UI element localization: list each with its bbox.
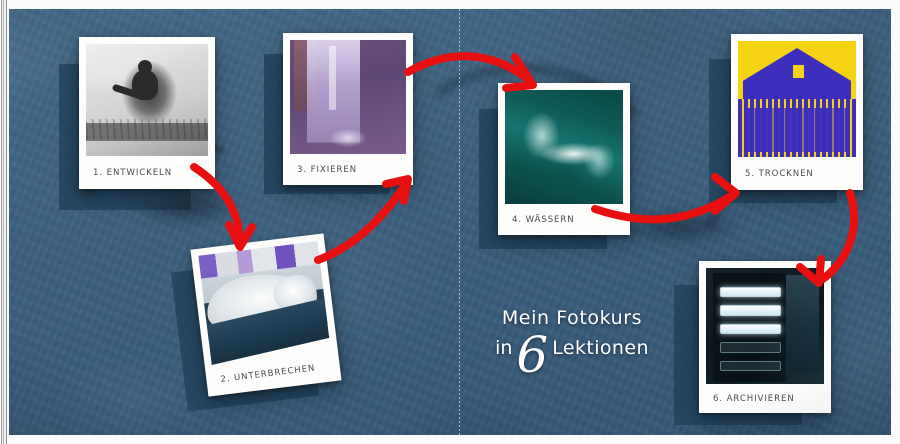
house-window [792,64,805,79]
polaroid-step-6[interactable]: 6. ARCHIVIEREN [699,261,831,413]
bear-backdrop-band [198,241,320,279]
caption-step-4: 4. WÄSSERN [505,204,623,235]
course-title-word-lektionen: Lektionen [552,339,649,358]
polaroid-step-1[interactable]: 1. ENTWICKELN [79,37,215,189]
course-title: Mein Fotokurs in 6 Lektionen [477,309,667,364]
slide-canvas: 1. ENTWICKELN 3. FIXIEREN 4. WÄSSERN 5. … [9,9,891,435]
drawer-5 [720,361,781,372]
course-title-number: 6 [516,340,548,371]
photo-entwickeln [86,44,208,156]
course-title-line1: Mein Fotokurs [477,309,667,328]
photo-fixieren [290,40,406,154]
polaroid-step-5[interactable]: 5. TROCKNEN [731,34,863,190]
caption-step-6: 6. ARCHIVIEREN [706,384,824,413]
photo-unterbrechen [198,241,331,365]
drawer-3 [720,324,781,335]
caption-step-5: 5. TROCKNEN [738,157,856,190]
drawer-1 [720,287,781,298]
polaroid-step-2[interactable]: 2. UNTERBRECHEN [190,233,341,396]
photo-trocknen [738,41,856,157]
drawer-2 [720,305,781,316]
polaroid-step-3[interactable]: 3. FIXIEREN [283,33,413,185]
photo-archivieren [706,268,824,384]
soft-shadow-blob-1 [127,185,247,229]
course-title-line2: in 6 Lektionen [477,333,667,364]
slide-frame: 1. ENTWICKELN 3. FIXIEREN 4. WÄSSERN 5. … [0,0,900,444]
polaroid-step-4[interactable]: 4. WÄSSERN [498,83,630,235]
guide-line [459,9,460,435]
caption-step-1: 1. ENTWICKELN [86,156,208,189]
course-title-word-in: in [495,339,512,358]
cabinet-background [784,275,819,372]
house-crowd [745,108,849,152]
photo-waessern [505,90,623,204]
figure-head [138,60,152,74]
drawer-4 [720,342,781,353]
soft-shadow-blob-2 [609,205,749,249]
caption-step-3: 3. FIXIEREN [290,154,406,185]
